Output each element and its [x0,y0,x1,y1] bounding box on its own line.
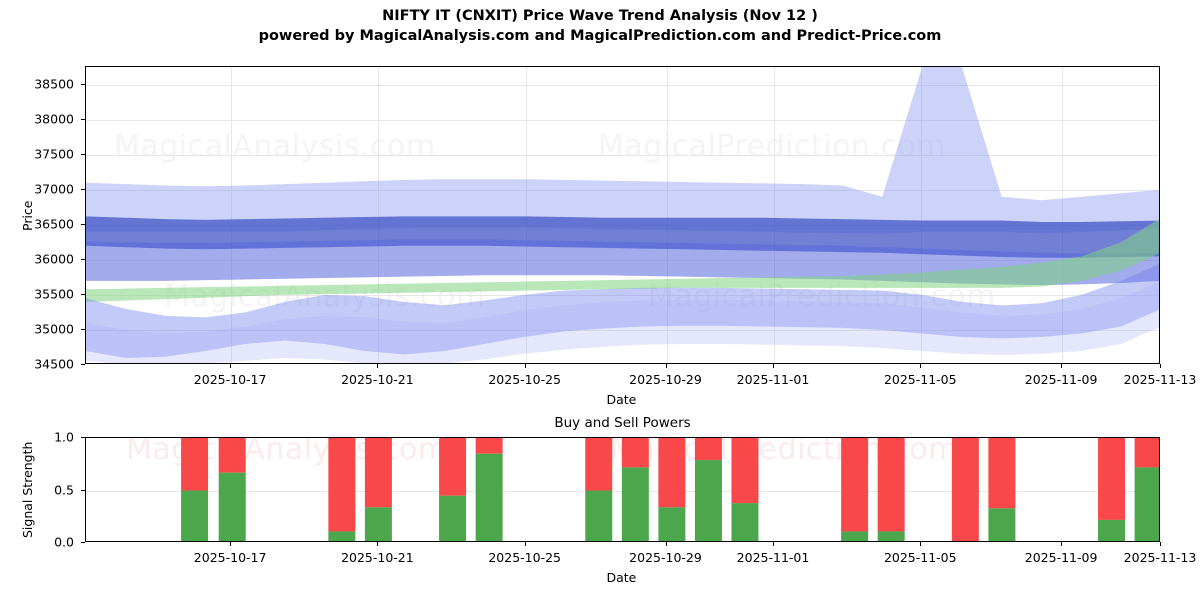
price-band-layer [86,67,1160,364]
sell-power-bar[interactable] [622,438,649,467]
buy-power-bar[interactable] [439,496,466,542]
buy-power-bar[interactable] [695,460,722,542]
buy-power-bar[interactable] [365,507,392,542]
sell-power-bar[interactable] [585,438,612,491]
y-tick-mark [81,259,85,260]
x-axis-tick-label: 2025-10-17 [194,372,267,387]
x-axis-tick-label: 2025-11-01 [737,372,810,387]
page-title: NIFTY IT (CNXIT) Price Wave Trend Analys… [0,6,1200,26]
x-axis-tick-label: 2025-10-29 [629,372,702,387]
x-axis-tick-label: 2025-10-25 [488,550,561,565]
x-tick-mark [525,542,526,546]
price-plot-area: MagicalAnalysis.comMagicalPrediction.com… [85,66,1160,364]
y-tick-mark [81,437,85,438]
signal-plot-area: MagicalAnalysis.comMagicalPrediction.com [85,437,1160,542]
y-tick-mark [81,154,85,155]
x-tick-mark [1061,542,1062,546]
y-axis-label: Price [20,201,35,232]
x-axis-tick-label: 2025-11-05 [884,550,957,565]
x-tick-mark [377,542,378,546]
x-tick-mark [773,542,774,546]
buy-power-bar[interactable] [328,531,355,542]
sell-power-bar[interactable] [219,438,246,473]
y-axis-tick-label: 38000 [10,111,74,126]
sell-power-bar[interactable] [731,438,758,503]
x-axis-tick-label: 2025-10-21 [341,372,414,387]
y-axis-tick-label: 37000 [10,181,74,196]
y-axis-tick-label: 36000 [10,251,74,266]
y-tick-mark [81,84,85,85]
x-axis-tick-label: 2025-10-21 [341,550,414,565]
x-axis-tick-label: 2025-10-17 [194,550,267,565]
sell-power-bar[interactable] [952,438,979,542]
sell-power-bar[interactable] [439,438,466,496]
y-axis-label: Signal Strength [20,441,35,537]
buy-power-bar[interactable] [988,508,1015,542]
x-tick-mark [230,542,231,546]
x-axis-label: Date [607,570,637,585]
y-axis-tick-label: 35500 [10,286,74,301]
x-axis-tick-label: 2025-11-13 [1124,372,1197,387]
y-tick-mark [81,542,85,543]
y-axis-tick-label: 37500 [10,146,74,161]
sell-power-bar[interactable] [695,438,722,460]
sell-power-bar[interactable] [988,438,1015,508]
x-tick-mark [666,542,667,546]
buy-power-bar[interactable] [731,503,758,542]
x-tick-mark [920,364,921,368]
sell-power-bar[interactable] [1098,438,1125,520]
buy-power-bar[interactable] [585,491,612,543]
x-axis-tick-label: 2025-11-09 [1025,372,1098,387]
x-axis-tick-label: 2025-11-05 [884,372,957,387]
x-axis-tick-label: 2025-11-01 [737,550,810,565]
buy-power-bar[interactable] [219,473,246,542]
y-tick-mark [81,224,85,225]
buy-power-bar[interactable] [476,454,503,542]
sell-power-bar[interactable] [878,438,905,531]
y-tick-mark [81,119,85,120]
x-tick-mark [1160,364,1161,368]
x-tick-mark [1061,364,1062,368]
buy-power-bar[interactable] [841,531,868,542]
x-tick-mark [920,542,921,546]
sell-power-bar[interactable] [658,438,685,507]
y-tick-mark [81,490,85,491]
buy-sell-title: Buy and Sell Powers [554,415,690,431]
buy-power-bar[interactable] [878,531,905,542]
buy-power-bar[interactable] [1135,467,1160,542]
sell-power-bar[interactable] [476,438,503,454]
y-axis-tick-label: 34500 [10,357,74,372]
y-tick-mark [81,329,85,330]
x-axis-label: Date [607,392,637,407]
sell-power-bar[interactable] [1135,438,1160,467]
chart-title-block: NIFTY IT (CNXIT) Price Wave Trend Analys… [0,6,1200,46]
y-tick-mark [81,364,85,365]
y-axis-tick-label: 38500 [10,76,74,91]
x-axis-tick-label: 2025-11-13 [1124,550,1197,565]
sell-power-bar[interactable] [841,438,868,531]
y-axis-tick-label: 35000 [10,321,74,336]
x-axis-tick-label: 2025-10-29 [629,550,702,565]
sell-power-bar[interactable] [181,438,208,491]
buy-power-bar[interactable] [1098,520,1125,542]
y-tick-mark [81,189,85,190]
buy-power-bar[interactable] [181,491,208,543]
page-subtitle: powered by MagicalAnalysis.com and Magic… [0,26,1200,46]
x-tick-mark [525,364,526,368]
x-tick-mark [666,364,667,368]
x-tick-mark [773,364,774,368]
price-band-outer-upper-light [86,67,1160,234]
x-axis-tick-label: 2025-10-25 [488,372,561,387]
y-tick-mark [81,294,85,295]
signal-bar-layer [86,438,1160,542]
buy-power-bar[interactable] [622,467,649,542]
buy-power-bar[interactable] [658,507,685,542]
x-axis-tick-label: 2025-11-09 [1025,550,1098,565]
x-tick-mark [1160,542,1161,546]
x-tick-mark [377,364,378,368]
sell-power-bar[interactable] [365,438,392,507]
sell-power-bar[interactable] [328,438,355,531]
x-tick-mark [230,364,231,368]
